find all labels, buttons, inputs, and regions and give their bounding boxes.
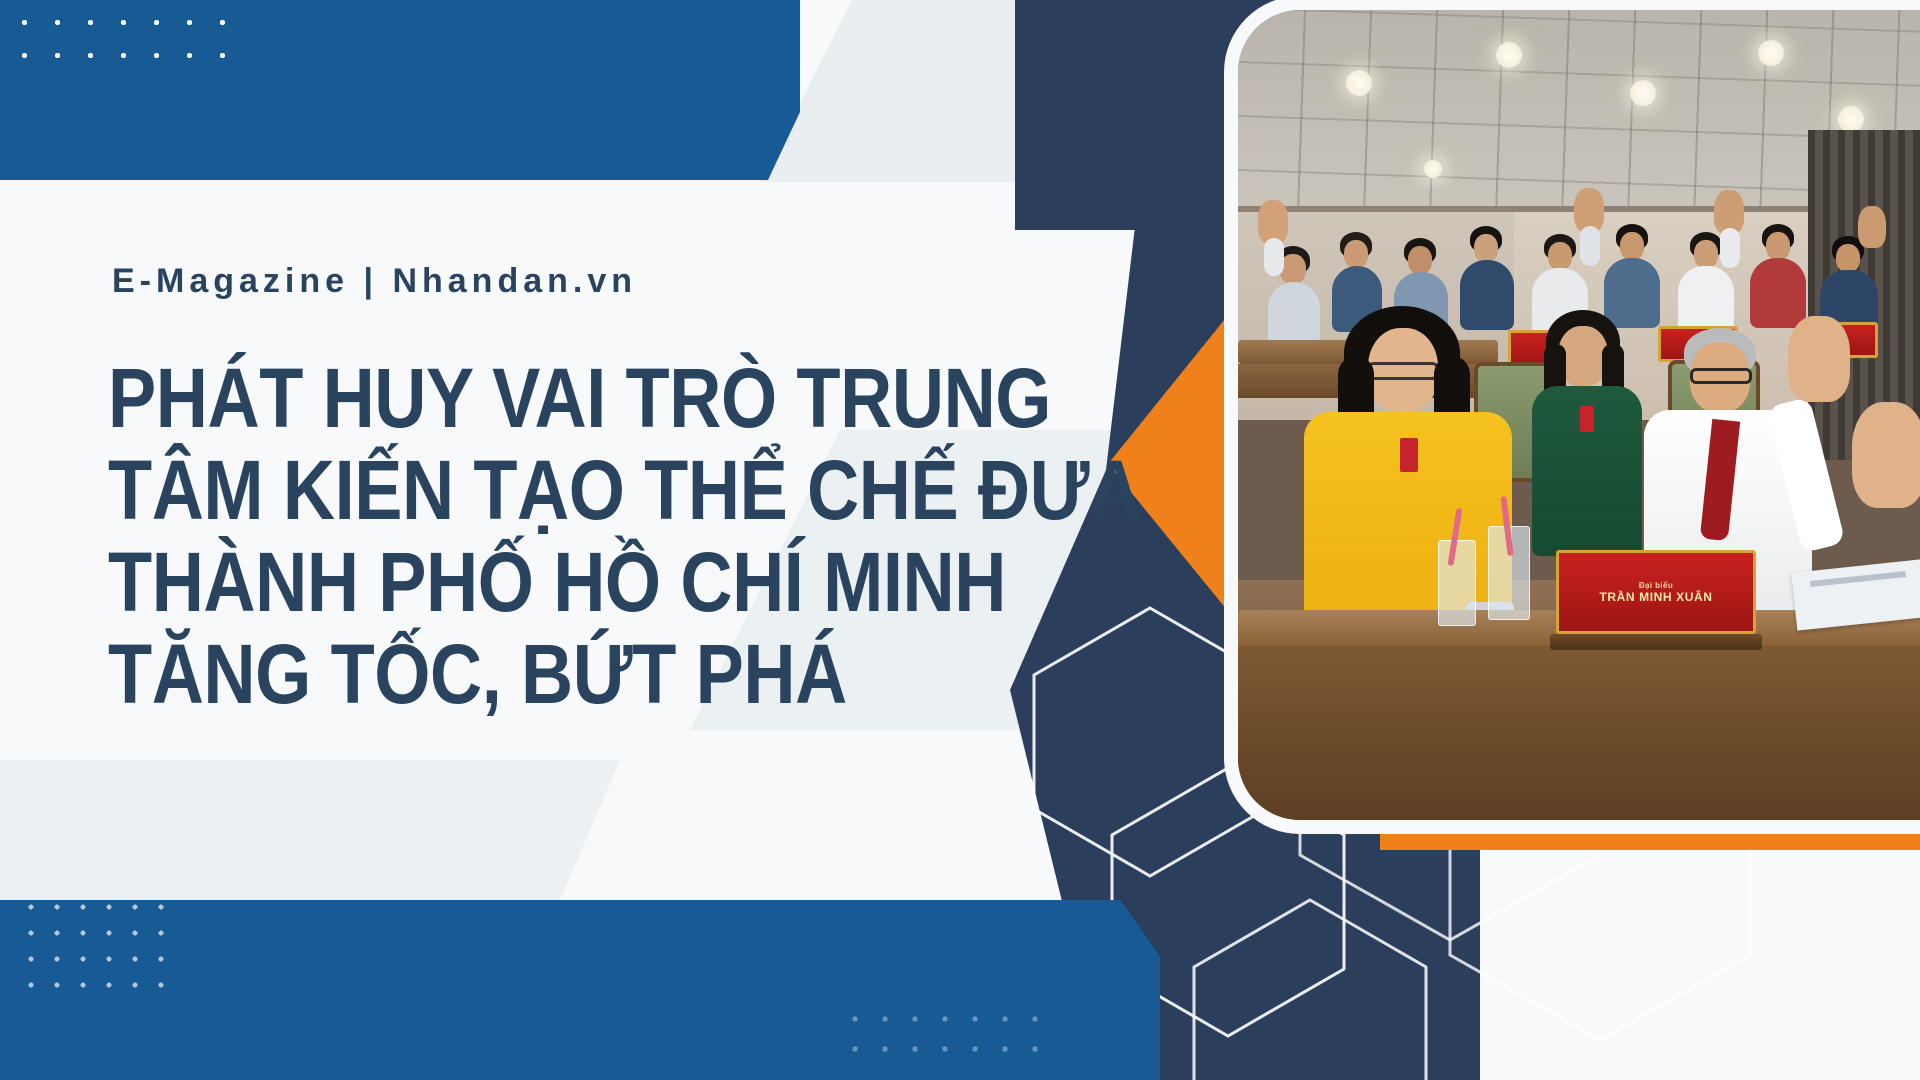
headline-line-4: TĂNG TỐC, BỨT PHÁ bbox=[108, 628, 899, 720]
kicker-label: E-Magazine | Nhandan.vn bbox=[112, 262, 637, 301]
e-magazine-cover: Đại biểu TRẦN MINH XUÂN E-Magazine | Nha… bbox=[0, 0, 1920, 1080]
front-desk-front bbox=[1238, 646, 1920, 820]
headline-line-3: THÀNH PHỐ HỒ CHÍ MINH bbox=[108, 536, 899, 628]
dot-grid-top-left bbox=[8, 6, 248, 76]
raised-hand bbox=[1788, 316, 1850, 402]
raised-arm bbox=[1720, 228, 1740, 268]
raised-hand bbox=[1852, 402, 1920, 508]
decor-parallelogram-bottom bbox=[0, 760, 620, 900]
delegate-nameplate: Đại biểu TRẦN MINH XUÂN bbox=[1556, 550, 1756, 634]
ceiling-light-icon bbox=[1630, 80, 1656, 106]
raised-hand bbox=[1858, 206, 1886, 248]
water-glass bbox=[1438, 540, 1476, 626]
ceiling-light-icon bbox=[1496, 42, 1522, 68]
nameplate-role: Đại biểu bbox=[1639, 581, 1673, 590]
eyeglasses-icon bbox=[1690, 368, 1752, 384]
ceiling-light-icon bbox=[1838, 106, 1864, 132]
ceiling-light-icon bbox=[1424, 160, 1442, 178]
lapel-badge bbox=[1400, 438, 1418, 472]
ceiling-light-icon bbox=[1346, 70, 1372, 96]
lapel-badge bbox=[1580, 406, 1594, 432]
hero-photo: Đại biểu TRẦN MINH XUÂN bbox=[1238, 10, 1920, 820]
dot-grid-bottom-center bbox=[840, 1004, 1050, 1064]
page-title: PHÁT HUY VAI TRÒ TRUNG TÂM KIẾN TẠO THỂ … bbox=[108, 352, 1028, 720]
raised-arm bbox=[1264, 238, 1284, 276]
nameplate-name: TRẦN MINH XUÂN bbox=[1599, 590, 1712, 604]
eyeglasses-icon bbox=[1366, 362, 1440, 380]
headline-line-1: PHÁT HUY VAI TRÒ TRUNG bbox=[108, 352, 899, 444]
headline-line-2: TÂM KIẾN TẠO THỂ CHẾ ĐƯA bbox=[108, 444, 899, 536]
nameplate-stand bbox=[1550, 634, 1762, 650]
dot-grid-bottom-left bbox=[18, 894, 178, 994]
ceiling-light-icon bbox=[1758, 40, 1784, 66]
raised-arm bbox=[1580, 226, 1600, 266]
